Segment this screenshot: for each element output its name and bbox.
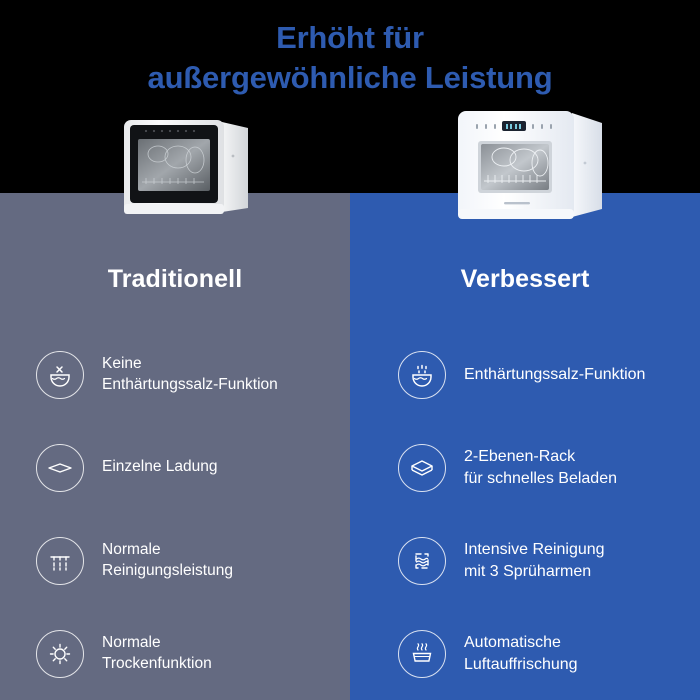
salt-icon xyxy=(398,351,446,399)
product-image-traditional xyxy=(116,112,256,224)
feature-label: Intensive Reinigung mit 3 Sprüharmen xyxy=(464,539,605,582)
feature-item-normal-drying: Normale Trockenfunktion xyxy=(36,607,344,700)
feature-label: Automatische Luftauffrischung xyxy=(464,632,578,675)
feature-item-two-layer-rack: 2-Ebenen-Rack für schnelles Beladen xyxy=(398,421,694,514)
feature-list-improved: Enthärtungssalz-Funktion 2-Ebenen-Rack f… xyxy=(350,328,700,700)
feature-item-no-salt: Keine Enthärtungssalz-Funktion xyxy=(36,328,344,421)
headline-line-1: Erhöht für xyxy=(0,18,700,58)
feature-label: Enthärtungssalz-Funktion xyxy=(464,364,645,385)
feature-item-auto-air-refresh: Automatische Luftauffrischung xyxy=(398,607,694,700)
dishwasher-improved-illustration xyxy=(452,105,612,230)
panel-title-traditional: Traditionell xyxy=(0,265,350,294)
feature-label: Keine Enthärtungssalz-Funktion xyxy=(102,354,278,395)
feature-label: Einzelne Ladung xyxy=(102,457,218,478)
single-layer-icon xyxy=(36,444,84,492)
feature-label: Normale Trockenfunktion xyxy=(102,633,212,674)
feature-label: 2-Ebenen-Rack für schnelles Beladen xyxy=(464,446,617,489)
page-title: Erhöht für außergewöhnliche Leistung xyxy=(0,18,700,97)
dishwasher-traditional-illustration xyxy=(116,112,256,224)
headline-line-2: außergewöhnliche Leistung xyxy=(0,58,700,98)
steam-bowl-icon xyxy=(398,630,446,678)
comparison-infographic: Erhöht für außergewöhnliche Leistung xyxy=(0,0,700,700)
spray-waves-icon xyxy=(398,537,446,585)
two-layer-rack-icon xyxy=(398,444,446,492)
feature-label: Normale Reinigungsleistung xyxy=(102,540,233,581)
no-salt-icon xyxy=(36,351,84,399)
feature-item-single-load: Einzelne Ladung xyxy=(36,421,344,514)
panel-title-improved: Verbessert xyxy=(350,265,700,294)
feature-list-traditional: Keine Enthärtungssalz-Funktion Einzelne … xyxy=(0,328,350,700)
feature-item-salt: Enthärtungssalz-Funktion xyxy=(398,328,694,421)
feature-item-intensive-cleaning: Intensive Reinigung mit 3 Sprüharmen xyxy=(398,514,694,607)
product-image-improved xyxy=(452,105,612,230)
shower-icon xyxy=(36,537,84,585)
feature-item-normal-cleaning: Normale Reinigungsleistung xyxy=(36,514,344,607)
sun-dry-icon xyxy=(36,630,84,678)
